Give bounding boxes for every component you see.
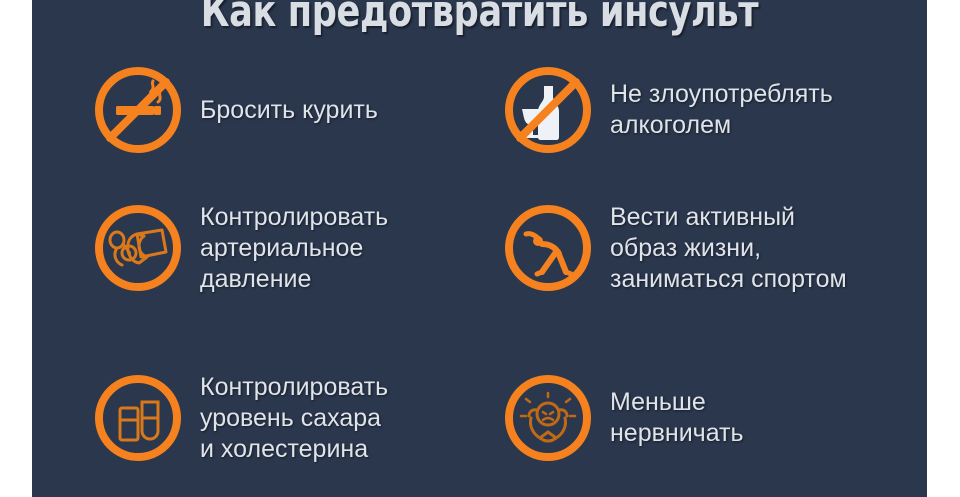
exercise-person-icon bbox=[500, 200, 596, 296]
tip-item-active-lifestyle: Вести активный образ жизни, заниматься с… bbox=[500, 200, 847, 296]
tip-item-no-alcohol: Не злоупотреблять алкоголем bbox=[500, 62, 833, 158]
tip-label: Контролировать уровень сахара и холестер… bbox=[200, 372, 388, 465]
tip-item-quit-smoking: Бросить курить bbox=[90, 62, 378, 158]
tip-label: Вести активный образ жизни, заниматься с… bbox=[610, 202, 847, 295]
tip-label: Бросить курить bbox=[200, 95, 378, 126]
tip-item-less-stress: Меньше нервничать bbox=[500, 370, 744, 466]
tip-label: Не злоупотреблять алкоголем bbox=[610, 79, 833, 141]
tip-label: Меньше нервничать bbox=[610, 387, 744, 449]
test-tubes-icon bbox=[90, 370, 186, 466]
page-title: Как предотвратить инсульт bbox=[122, 0, 838, 37]
stressed-person-icon bbox=[500, 370, 596, 466]
tip-item-control-blood-pressure: Контролировать артериальное давление bbox=[90, 200, 388, 296]
tip-label: Контролировать артериальное давление bbox=[200, 202, 388, 295]
blood-pressure-monitor-icon bbox=[90, 200, 186, 296]
infographic-page: Как предотвратить инсульт Бросить курить bbox=[0, 0, 960, 497]
tip-item-control-sugar-cholesterol: Контролировать уровень сахара и холестер… bbox=[90, 370, 388, 466]
no-smoking-icon bbox=[90, 62, 186, 158]
no-alcohol-icon bbox=[500, 62, 596, 158]
infographic-panel: Как предотвратить инсульт Бросить курить bbox=[32, 0, 927, 497]
